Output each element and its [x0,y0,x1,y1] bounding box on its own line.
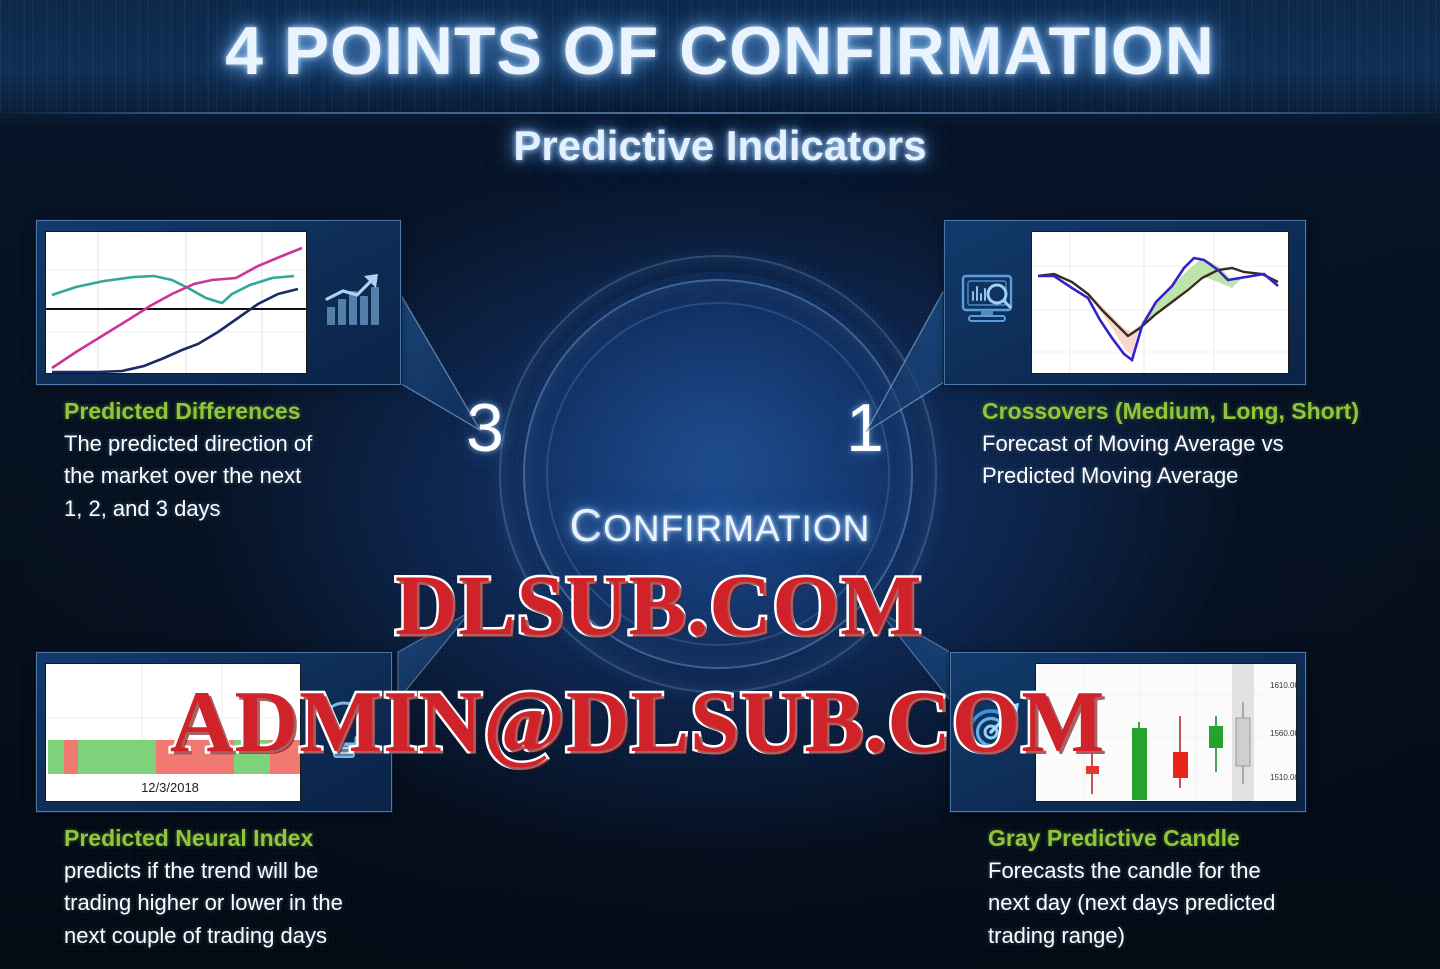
header-divider [0,112,1440,114]
panel-crossovers[interactable]: Crossovers (Medium, Long, Short) Forecas… [944,220,1359,493]
slide-canvas: 4 POINTS OF CONFIRMATION Predictive Indi… [0,0,1440,969]
crossovers-thumbnail [1031,231,1289,374]
monitor-analytics-icon [959,272,1019,333]
page-subtitle: Predictive Indicators [0,122,1440,170]
blurb-line: Forecasts the candle for the [988,855,1306,887]
blurb-line: next day (next days predicted [988,887,1306,919]
watermark-email: ADMIN@DLSUB.COM [170,672,1105,773]
panel-headline: Crossovers (Medium, Long, Short) [982,398,1359,425]
blurb-line: trading higher or lower in the [64,887,392,919]
blurb-line: Forecast of Moving Average vs [982,428,1359,460]
blurb-line: trading range) [988,920,1306,952]
panel-blurb: Forecast of Moving Average vs Predicted … [982,428,1359,493]
panel-blurb: Forecasts the candle for the next day (n… [988,855,1306,952]
svg-text:12/3/2018: 12/3/2018 [141,780,199,795]
panel-blurb: The predicted direction of the market ov… [64,428,401,525]
watermark-site: DLSUB.COM [395,555,922,655]
blurb-line: The predicted direction of [64,428,401,460]
panel-blurb: predicts if the trend will be trading hi… [64,855,392,952]
page-title: 4 POINTS OF CONFIRMATION [0,12,1440,90]
blurb-line: predicts if the trend will be [64,855,392,887]
panel-headline: Predicted Differences [64,398,401,425]
predicted-differences-thumbnail [45,231,307,374]
svg-text:1510.00: 1510.00 [1270,773,1297,782]
blurb-line: Predicted Moving Average [982,460,1359,492]
step-number-1: 1 [846,394,884,462]
svg-text:1560.00: 1560.00 [1270,729,1297,738]
blurb-line: the market over the next [64,460,401,492]
center-label: CONFIRMATION [440,500,1000,552]
bar-chart-up-icon [323,271,385,334]
panel-predicted-differences[interactable]: Predicted Differences The predicted dire… [36,220,401,525]
panel-headline: Predicted Neural Index [64,825,392,852]
blurb-line: next couple of trading days [64,920,392,952]
blurb-line: 1, 2, and 3 days [64,493,401,525]
svg-text:1610.00: 1610.00 [1270,681,1297,690]
panel-headline: Gray Predictive Candle [988,825,1306,852]
step-number-3: 3 [466,394,504,462]
